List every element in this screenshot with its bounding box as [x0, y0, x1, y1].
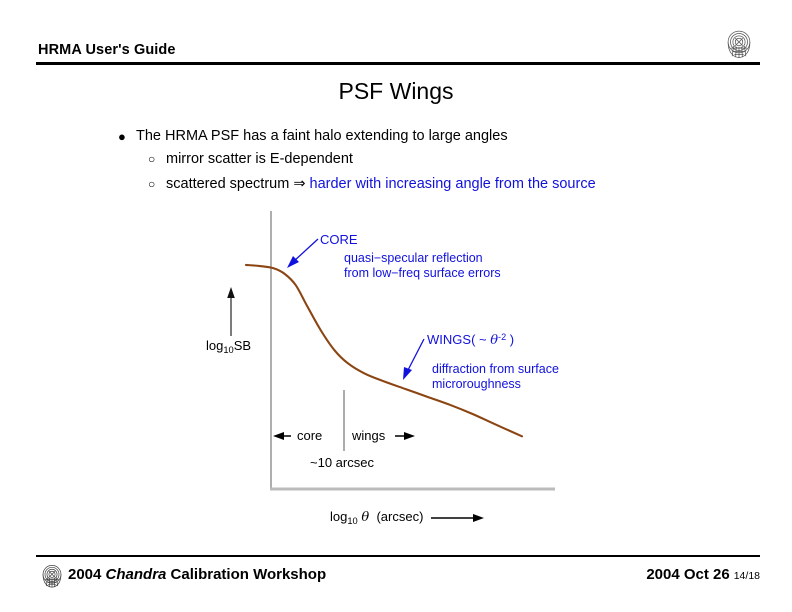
y-axis-label-prefix: log — [206, 338, 223, 353]
wings-annotation-arrow — [403, 339, 424, 380]
core-region-label: core — [297, 428, 322, 443]
theta-symbol: θ — [361, 510, 369, 525]
footer-divider — [36, 555, 760, 557]
wings-desc-line-1: diffraction from surface — [432, 362, 559, 377]
x-axis-label-units: (arcsec) — [376, 509, 423, 524]
theta-exponent: -2 — [498, 332, 506, 342]
wings-annotation-description: diffraction from surface microroughness — [432, 362, 559, 392]
divider-note-label: ~10 arcsec — [310, 455, 374, 470]
psf-surface-brightness-curve — [246, 265, 522, 436]
wings-region-arrow — [395, 432, 415, 440]
footer-left-text: 2004 Chandra Calibration Workshop — [68, 566, 326, 583]
footer-mission: Chandra — [106, 566, 167, 583]
footer-page-number: 14/18 — [734, 570, 760, 582]
wings-desc-line-2: microroughness — [432, 377, 559, 392]
wings-math-open: ( ~ — [471, 332, 490, 347]
y-axis-label-suffix: SB — [234, 338, 251, 353]
x-axis-label-subscript: 10 — [347, 516, 357, 526]
core-annotation-description: quasi−specular reflection from low−freq … — [344, 251, 501, 281]
x-axis-label: log10 θ (arcsec) — [330, 509, 423, 526]
x-axis-label-prefix: log — [330, 509, 347, 524]
core-desc-line-2: from low−freq surface errors — [344, 266, 501, 281]
footer-year: 2004 — [68, 566, 106, 583]
footer-event: Calibration Workshop — [166, 566, 326, 583]
wings-label-text: WINGS — [427, 332, 471, 347]
core-annotation-label: CORE — [320, 232, 358, 247]
chandra-mirror-logo-icon — [38, 562, 66, 590]
wings-math-close: ) — [506, 332, 514, 347]
slide-footer: 2004 Chandra Calibration Workshop 2004 O… — [0, 548, 792, 612]
wings-annotation-label: WINGS( ~ θ-2 ) — [427, 332, 514, 348]
y-axis-direction-arrow — [227, 287, 235, 336]
footer-right-text: 2004 Oct 2614/18 — [646, 566, 760, 583]
core-desc-line-1: quasi−specular reflection — [344, 251, 501, 266]
y-axis-label-subscript: 10 — [223, 345, 233, 355]
y-axis-label: log10SB — [206, 338, 251, 355]
core-annotation-arrow — [287, 239, 318, 268]
x-axis-direction-arrow — [431, 514, 484, 522]
psf-wings-diagram: CORE quasi−specular reflection from low−… — [0, 0, 792, 612]
wings-region-label: wings — [352, 428, 385, 443]
footer-date: 2004 Oct 26 — [646, 566, 729, 583]
theta-symbol: θ — [490, 333, 498, 348]
core-region-arrow — [273, 432, 291, 440]
